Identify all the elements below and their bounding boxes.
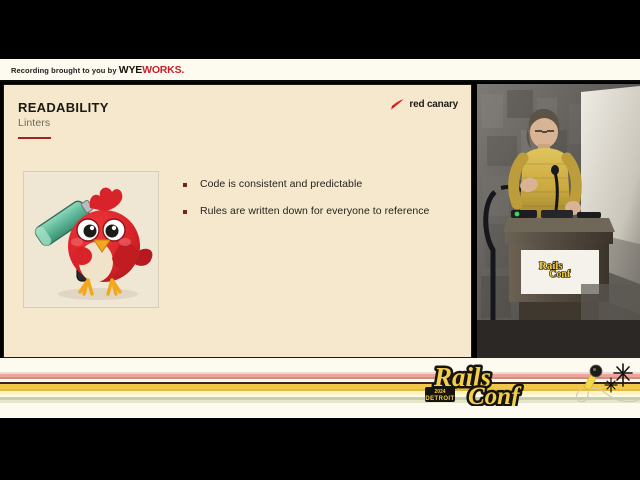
slide-header: READABILITY Linters red canary	[4, 85, 471, 141]
badge-city: DETROIT	[425, 396, 454, 402]
bullet-text: Code is consistent and predictable	[200, 178, 362, 191]
title-underline-rule	[18, 137, 51, 139]
sparkle-small	[605, 378, 617, 392]
railsconf-line2: Conf	[468, 383, 522, 406]
screenshot-stage: Recording brought to you by WYEWORKS. RE…	[0, 0, 640, 480]
bird-illustration-card	[23, 171, 159, 308]
sponsor-prefix: Recording brought to you by	[11, 66, 119, 75]
red-canary-logo: red canary	[389, 98, 458, 111]
wyeworks-brand-part2: WORKS.	[142, 64, 184, 76]
wyeworks-brand-part1: WYE	[119, 64, 142, 76]
bullet-item: Rules are written down for everyone to r…	[183, 205, 458, 218]
bullet-item: Code is consistent and predictable	[183, 178, 458, 191]
red-canary-text: red canary	[409, 99, 458, 110]
badge-year: 2024	[434, 389, 445, 395]
svg-text:Conf: Conf	[549, 269, 571, 280]
railsconf-logo-icon: Rails Rails Conf Conf 2024 DETROIT	[420, 360, 538, 406]
sponsor-text: Recording brought to you by WYEWORKS.	[11, 64, 184, 76]
microphone-sparkle-icon	[566, 360, 640, 416]
bullet-marker-icon	[183, 210, 187, 214]
railsconf-logo: Rails Rails Conf Conf 2024 DETROIT	[420, 360, 538, 406]
bullet-marker-icon	[183, 183, 187, 187]
microphone-and-sparkles-decoration	[566, 360, 640, 416]
slide-title: READABILITY	[18, 100, 109, 115]
speaker-video-panel: Rails Rails Conf Conf	[477, 84, 640, 358]
bullet-list: Code is consistent and predictable Rules…	[183, 178, 458, 232]
bullet-text: Rules are written down for everyone to r…	[200, 205, 429, 218]
footer-stripe	[0, 403, 640, 418]
sparkle-large	[614, 364, 632, 386]
footer-stripe-band: Rails Rails Conf Conf 2024 DETROIT	[0, 358, 640, 418]
presentation-slide: READABILITY Linters red canary	[3, 84, 472, 358]
footer-stripe	[0, 358, 640, 372]
sponsor-banner: Recording brought to you by WYEWORKS.	[0, 59, 640, 82]
slide-subtitle: Linters	[18, 117, 50, 129]
canary-bird-icon	[389, 98, 405, 111]
speaker-video-frame: Rails Rails Conf Conf	[477, 84, 640, 358]
content-row: READABILITY Linters red canary	[0, 84, 640, 358]
red-bird-with-paint-roller-icon	[24, 172, 158, 307]
railsconf-badge: 2024 DETROIT	[425, 387, 455, 402]
